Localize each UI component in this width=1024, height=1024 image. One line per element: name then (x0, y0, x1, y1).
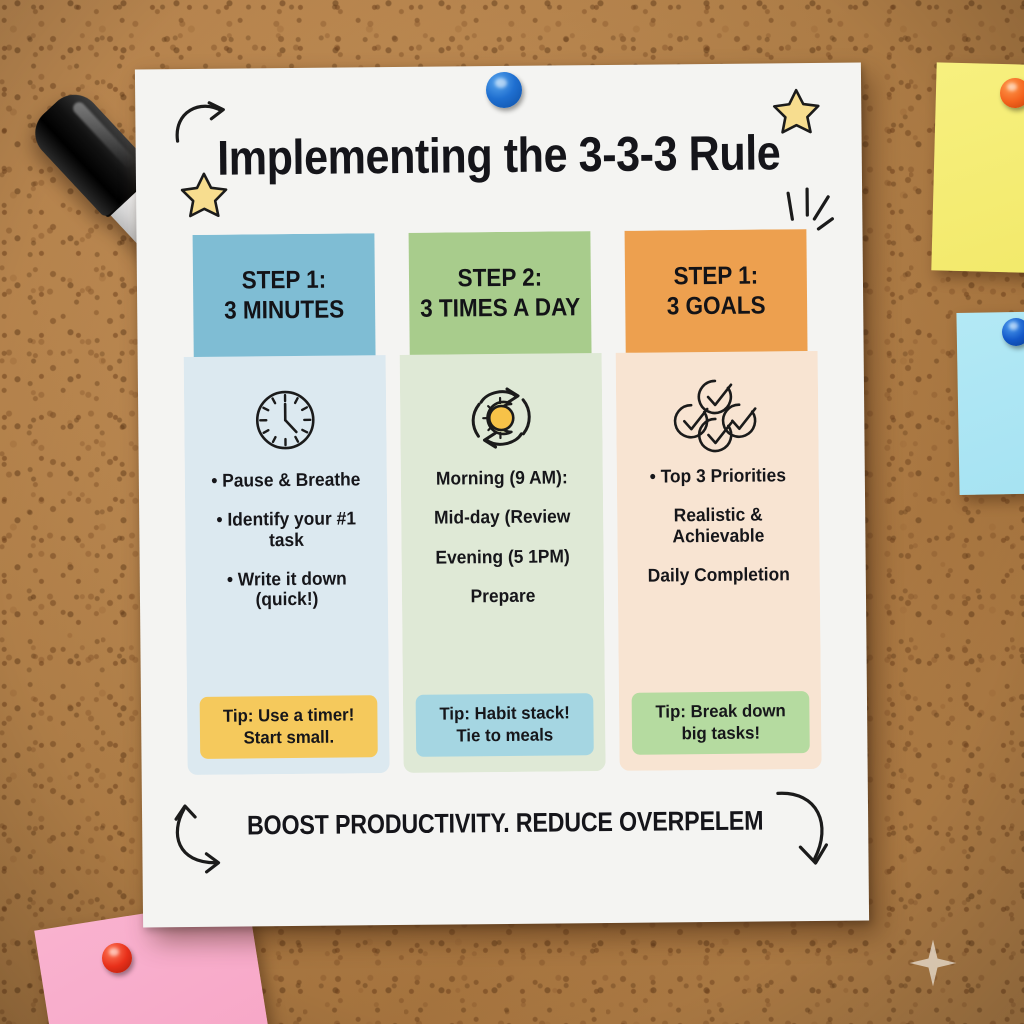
step-column-1-title: STEP 1: (241, 266, 326, 295)
step-column-2-header: STEP 2: 3 TIMES A DAY (409, 231, 592, 355)
step-column-3-lines: Top 3 Priorities Realistic & Achievable … (627, 465, 810, 605)
step-column-2-lines: Morning (9 AM): Mid-day (Review Evening … (411, 467, 595, 626)
poster-footer: BOOST PRODUCTIVITY. REDUCE OVERPELEM (193, 805, 818, 842)
curved-arrow-doodle (166, 797, 243, 882)
red-pushpin-icon[interactable] (102, 943, 132, 973)
list-item: Daily Completion (633, 564, 804, 586)
list-item: Pause & Breathe (200, 469, 371, 491)
step-column-1: STEP 1: 3 MINUTES (182, 233, 389, 775)
star-doodle (178, 169, 230, 221)
star-doodle (769, 85, 824, 140)
step-column-2: STEP 2: 3 TIMES A DAY (398, 231, 605, 773)
day-night-cycle-icon (463, 372, 540, 465)
step-column-3-subtitle: 3 GOALS (667, 291, 766, 320)
step-column-1-header: STEP 1: 3 MINUTES (193, 233, 376, 357)
page-title: Implementing the 3-3-3 Rule (179, 125, 818, 187)
list-item: Top 3 Priorities (632, 465, 803, 487)
step-column-1-tip: Tip: Use a timer! Start small. (199, 695, 377, 758)
step-column-2-title: STEP 2: (457, 264, 542, 293)
sparkle-doodle (776, 185, 841, 242)
step-column-3-tip: Tip: Break down big tasks! (631, 691, 809, 754)
blue-pushpin-icon[interactable] (1002, 318, 1024, 346)
list-item: Mid-day (Review (417, 507, 588, 529)
orange-pushpin-icon[interactable] (1000, 78, 1024, 108)
step-column-3-body: Top 3 Priorities Realistic & Achievable … (616, 351, 822, 771)
curved-arrow-doodle (163, 97, 234, 170)
poster: Implementing the 3-3-3 Rule (135, 63, 869, 928)
tip-line-1: Tip: Habit stack! (425, 702, 584, 725)
check-circles-icon (671, 369, 764, 462)
curved-arrow-doodle (756, 785, 841, 882)
list-item: Prepare (417, 585, 588, 607)
tip-line-2: big tasks! (641, 722, 800, 745)
step-column-2-tip: Tip: Habit stack! Tie to meals (415, 693, 593, 756)
list-item: Write it down (quick!) (201, 568, 372, 610)
step-column-2-body: Morning (9 AM): Mid-day (Review Evening … (400, 353, 606, 773)
four-point-sparkle-icon (906, 936, 960, 990)
step-column-1-body: Pause & Breathe Identify your #1 task Wr… (184, 355, 390, 775)
list-item: Evening (5 1PM) (417, 546, 588, 568)
step-column-2-subtitle: 3 TIMES A DAY (420, 293, 580, 323)
steps-columns: STEP 1: 3 MINUTES (182, 229, 821, 775)
step-column-3: STEP 1: 3 GOALS (614, 229, 821, 771)
step-column-1-subtitle: 3 MINUTES (224, 296, 344, 325)
tip-line-1: Tip: Use a timer! (209, 705, 368, 728)
blue-pushpin-icon[interactable] (486, 72, 522, 108)
clock-icon (250, 374, 321, 467)
tip-line-2: Start small. (209, 726, 368, 749)
list-item: Morning (9 AM): (416, 467, 587, 489)
step-column-3-title: STEP 1: (673, 262, 758, 291)
corkboard-background: Implementing the 3-3-3 Rule (0, 0, 1024, 1024)
list-item: Realistic & Achievable (633, 504, 804, 546)
tip-line-2: Tie to meals (425, 724, 584, 747)
tip-line-1: Tip: Break down (641, 700, 800, 723)
step-column-1-lines: Pause & Breathe Identify your #1 task Wr… (195, 469, 379, 629)
step-column-3-header: STEP 1: 3 GOALS (625, 229, 808, 353)
list-item: Identify your #1 task (201, 509, 372, 551)
